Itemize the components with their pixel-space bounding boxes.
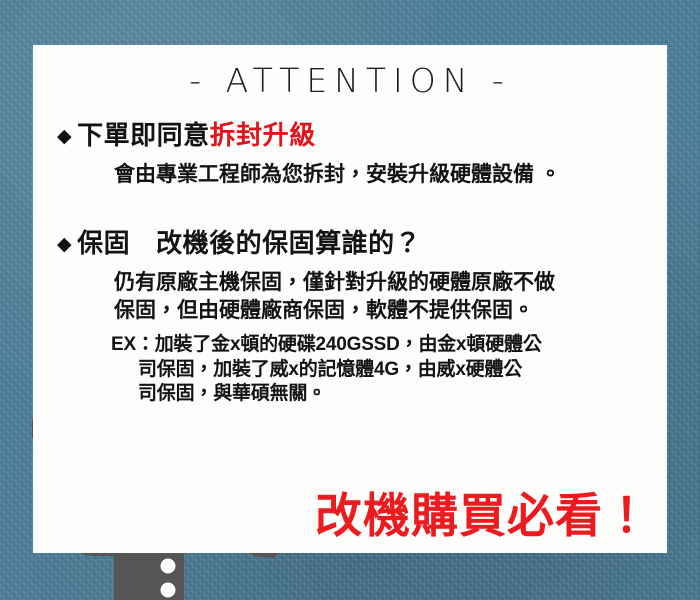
section-unboxing-headline: ◆ 下單即同意 拆封升級 — [33, 115, 667, 152]
example-line: 司保固，加裝了威x的記憶體4G，由威x硬體公 — [111, 358, 667, 383]
section-warranty-headline: ◆ 保固 改機後的保固算誰的？ — [33, 223, 667, 260]
section-warranty-body: 仍有原廠主機保固，僅針對升級的硬體原廠不做 保固，但由硬體廠商保固，軟體不提供保… — [33, 269, 667, 324]
body-line: 保固，但由硬體廠商保固，軟體不提供保固。 — [114, 297, 667, 325]
example-text: EX：加裝了金x頓的硬碟240GSSD，由金x頓硬體公 司保固，加裝了威x的記憶… — [33, 333, 667, 407]
example-block: EX：加裝了金x頓的硬碟240GSSD，由金x頓硬體公 司保固，加裝了威x的記憶… — [33, 333, 667, 407]
diamond-bullet-icon: ◆ — [57, 127, 72, 146]
section-unboxing-headline-accent: 拆封升級 — [210, 115, 316, 152]
section-unboxing: ◆ 下單即同意 拆封升級 會由專業工程師為您拆封，安裝升級硬體設備 。 — [33, 115, 667, 189]
body-line: 仍有原廠主機保固，僅針對升級的硬體原廠不做 — [114, 269, 667, 297]
example-line-text: 司保固，加裝了威x的記憶體4G，由威x硬體公 — [138, 359, 522, 380]
section-warranty-headline-plain: 保固 — [77, 223, 130, 260]
poster-root: - ATTENTION - ◆ 下單即同意 拆封升級 會由專業工程師為您拆封，安… — [0, 0, 700, 600]
section-unboxing-body: 會由專業工程師為您拆封，安裝升級硬體設備 。 — [33, 161, 667, 189]
content-card: - ATTENTION - ◆ 下單即同意 拆封升級 會由專業工程師為您拆封，安… — [33, 45, 667, 553]
example-line-text: 司保固，與華碩無關。 — [138, 383, 326, 404]
page-title: - ATTENTION - — [33, 61, 667, 100]
example-line: 司保固，與華碩無關。 — [111, 382, 667, 407]
section-warranty: ◆ 保固 改機後的保固算誰的？ 仍有原廠主機保固，僅針對升級的硬體原廠不做 保固… — [33, 223, 667, 324]
section-warranty-headline-question: 改機後的保固算誰的？ — [156, 223, 421, 260]
callout-text: 改機購買必看！ — [315, 477, 651, 546]
diamond-bullet-icon: ◆ — [57, 235, 72, 254]
body-line: 會由專業工程師為您拆封，安裝升級硬體設備 。 — [114, 161, 667, 189]
example-line: EX：加裝了金x頓的硬碟240GSSD，由金x頓硬體公 — [111, 333, 667, 358]
cuff-buttons — [161, 559, 176, 598]
section-unboxing-headline-plain: 下單即同意 — [77, 115, 210, 152]
